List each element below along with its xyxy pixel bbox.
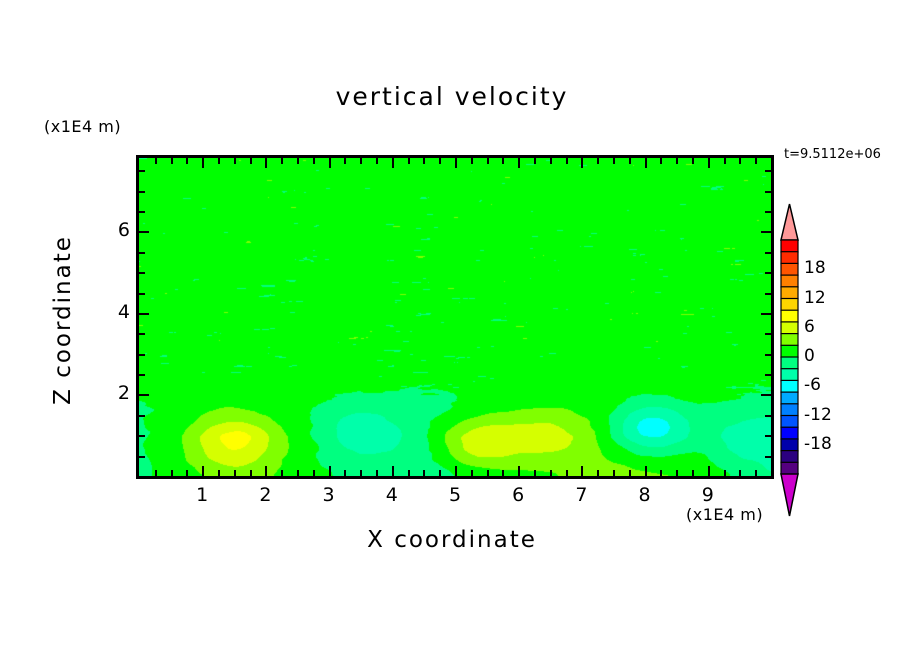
- colorbar-band: [781, 392, 798, 404]
- x-tick: [250, 158, 252, 164]
- x-tick: [502, 470, 504, 476]
- x-tick: [202, 466, 204, 476]
- x-tick: [218, 158, 220, 164]
- x-tick: [455, 466, 457, 476]
- z-tick: [139, 293, 145, 295]
- z-tick: [761, 394, 771, 396]
- z-tick: [765, 191, 771, 193]
- y-axis-title: Z coordinate: [50, 220, 76, 420]
- x-tick: [265, 158, 267, 168]
- z-tick: [139, 456, 145, 458]
- colorbar-band: [781, 404, 798, 416]
- x-tick: [297, 470, 299, 476]
- x-tick: [171, 158, 173, 164]
- z-tick: [139, 394, 149, 396]
- colorbar-band: [781, 240, 798, 252]
- x-tick: [392, 158, 394, 168]
- x-tick: [297, 158, 299, 164]
- z-tick: [765, 374, 771, 376]
- x-tick: [660, 158, 662, 164]
- x-tick: [186, 158, 188, 164]
- x-tick: [423, 470, 425, 476]
- colorbar-top-arrow: [781, 204, 798, 240]
- z-tick: [139, 252, 145, 254]
- colorbar: 181260-6-12-18: [775, 196, 895, 526]
- x-tick: [629, 470, 631, 476]
- x-tick: [739, 470, 741, 476]
- x-tick: [566, 470, 568, 476]
- chart-title: vertical velocity: [0, 82, 904, 111]
- x-tick: [708, 158, 710, 168]
- x-tick: [360, 470, 362, 476]
- x-tick-label: 5: [440, 484, 470, 506]
- colorbar-band: [781, 322, 798, 334]
- plot-area: [136, 155, 774, 479]
- x-tick: [692, 158, 694, 164]
- x-tick: [645, 466, 647, 476]
- z-tick: [765, 333, 771, 335]
- colorbar-tick-label: 12: [804, 288, 826, 308]
- x-tick: [281, 470, 283, 476]
- x-tick: [613, 470, 615, 476]
- colorbar-bottom-arrow: [781, 474, 798, 516]
- colorbar-band: [781, 287, 798, 299]
- x-tick: [186, 470, 188, 476]
- colorbar-band: [781, 439, 798, 451]
- z-tick: [139, 272, 145, 274]
- x-tick: [739, 158, 741, 164]
- x-tick: [376, 158, 378, 164]
- x-tick: [597, 158, 599, 164]
- colorbar-band: [781, 334, 798, 346]
- x-tick: [344, 470, 346, 476]
- z-tick: [139, 191, 145, 193]
- x-tick: [265, 466, 267, 476]
- colorbar-band: [781, 416, 798, 428]
- z-tick: [765, 170, 771, 172]
- x-tick: [724, 470, 726, 476]
- x-tick: [234, 158, 236, 164]
- z-tick: [761, 231, 771, 233]
- x-tick: [518, 466, 520, 476]
- x-tick: [566, 158, 568, 164]
- x-tick: [755, 470, 757, 476]
- colorbar-band: [781, 345, 798, 357]
- z-tick-label: 2: [100, 382, 130, 404]
- x-axis-title: X coordinate: [136, 527, 768, 553]
- colorbar-band: [781, 252, 798, 264]
- x-tick: [487, 158, 489, 164]
- z-tick: [139, 374, 145, 376]
- x-tick-label: 6: [503, 484, 533, 506]
- x-tick: [408, 470, 410, 476]
- x-tick: [408, 158, 410, 164]
- x-tick: [581, 466, 583, 476]
- colorbar-band: [781, 380, 798, 392]
- x-tick: [645, 158, 647, 168]
- x-tick-label: 9: [693, 484, 723, 506]
- z-tick: [139, 435, 145, 437]
- x-tick: [692, 470, 694, 476]
- z-tick: [765, 252, 771, 254]
- x-tick: [313, 470, 315, 476]
- x-tick: [518, 158, 520, 168]
- x-axis-unit-label: (x1E4 m): [686, 505, 763, 524]
- z-tick: [139, 333, 145, 335]
- colorbar-band: [781, 451, 798, 463]
- colorbar-band: [781, 299, 798, 311]
- x-tick: [155, 470, 157, 476]
- colorbar-band: [781, 369, 798, 381]
- z-tick: [765, 293, 771, 295]
- z-tick-label: 6: [100, 219, 130, 241]
- x-tick: [755, 158, 757, 164]
- x-tick: [660, 470, 662, 476]
- colorbar-swatches: [775, 196, 895, 526]
- x-tick: [171, 470, 173, 476]
- contour-field: [139, 158, 771, 476]
- x-tick: [613, 158, 615, 164]
- x-tick: [202, 158, 204, 168]
- colorbar-tick-label: 6: [804, 317, 815, 337]
- x-tick: [392, 466, 394, 476]
- colorbar-tick-label: 18: [804, 258, 826, 278]
- z-tick-label: 4: [100, 301, 130, 323]
- x-tick: [629, 158, 631, 164]
- figure-root: vertical velocity (x1E4 m) (x1E4 m) t=9.…: [0, 0, 904, 654]
- z-tick: [765, 272, 771, 274]
- x-tick-label: 4: [377, 484, 407, 506]
- x-tick: [439, 470, 441, 476]
- x-tick: [597, 470, 599, 476]
- x-tick: [329, 158, 331, 168]
- colorbar-band: [781, 275, 798, 287]
- z-tick: [765, 354, 771, 356]
- time-stamp-label: t=9.5112e+06: [784, 147, 881, 162]
- colorbar-band: [781, 427, 798, 439]
- x-tick: [218, 470, 220, 476]
- colorbar-band: [781, 263, 798, 275]
- x-tick: [550, 158, 552, 164]
- colorbar-band: [781, 310, 798, 322]
- z-tick: [765, 456, 771, 458]
- x-tick: [550, 470, 552, 476]
- colorbar-tick-label: -18: [804, 434, 832, 454]
- x-tick: [708, 466, 710, 476]
- x-tick: [724, 158, 726, 164]
- x-tick-label: 3: [314, 484, 344, 506]
- x-tick-label: 1: [187, 484, 217, 506]
- x-tick: [313, 158, 315, 164]
- z-tick: [765, 435, 771, 437]
- colorbar-band: [781, 462, 798, 474]
- x-tick: [534, 470, 536, 476]
- z-tick: [139, 211, 145, 213]
- x-tick: [439, 158, 441, 164]
- colorbar-tick-label: -6: [804, 375, 821, 395]
- colorbar-tick-label: -12: [804, 405, 832, 425]
- x-tick: [329, 466, 331, 476]
- x-tick: [250, 470, 252, 476]
- x-tick: [360, 158, 362, 164]
- z-tick: [139, 415, 145, 417]
- x-tick-label: 8: [630, 484, 660, 506]
- x-tick-label: 7: [566, 484, 596, 506]
- x-tick: [676, 470, 678, 476]
- x-tick: [423, 158, 425, 164]
- x-tick: [581, 158, 583, 168]
- z-tick: [761, 313, 771, 315]
- x-tick: [281, 158, 283, 164]
- z-tick: [765, 415, 771, 417]
- x-tick: [676, 158, 678, 164]
- x-tick: [455, 158, 457, 168]
- x-tick: [534, 158, 536, 164]
- x-tick: [487, 470, 489, 476]
- x-tick: [502, 158, 504, 164]
- x-tick: [344, 158, 346, 164]
- colorbar-band: [781, 357, 798, 369]
- x-tick: [471, 158, 473, 164]
- z-tick: [765, 211, 771, 213]
- colorbar-tick-label: 0: [804, 346, 815, 366]
- x-tick: [234, 470, 236, 476]
- z-tick: [139, 170, 145, 172]
- y-axis-unit-label: (x1E4 m): [44, 117, 121, 136]
- z-tick: [139, 354, 145, 356]
- x-tick: [155, 158, 157, 164]
- x-tick-label: 2: [250, 484, 280, 506]
- x-tick: [471, 470, 473, 476]
- z-tick: [139, 313, 149, 315]
- x-tick: [376, 470, 378, 476]
- z-tick: [139, 231, 149, 233]
